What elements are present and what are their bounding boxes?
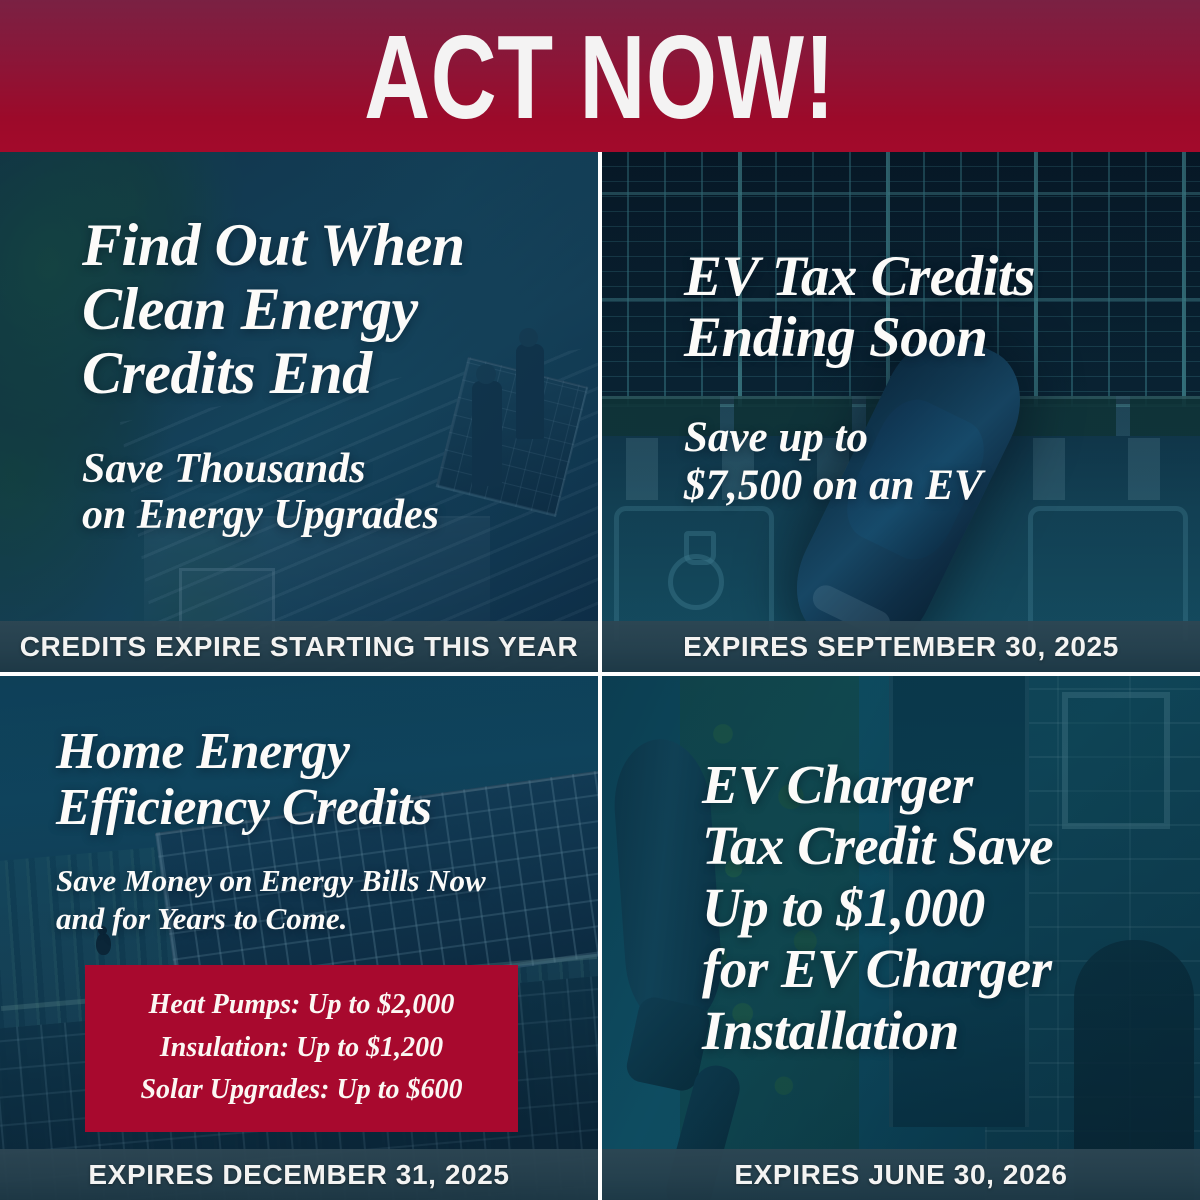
panel-grid: Find Out When Clean Energy Credits End S… (0, 152, 1200, 1200)
panel-3-text-block: Home Energy Efficiency Credits Save Mone… (0, 724, 598, 937)
panel-4-headline: EV Charger Tax Credit Save Up to $1,000 … (702, 754, 1200, 1062)
credit-line-insulation: Insulation: Up to $1,200 (160, 1030, 443, 1066)
panel-1-headline: Find Out When Clean Energy Credits End (82, 213, 598, 406)
panel-3-subhead: Save Money on Energy Bills Now and for Y… (56, 862, 598, 936)
panel-1-subhead: Save Thousands on Energy Upgrades (82, 446, 598, 538)
panel-4-expiry-band: EXPIRES JUNE 30, 2026 (602, 1149, 1200, 1200)
panel-2-expiry-text: EXPIRES SEPTEMBER 30, 2025 (683, 631, 1119, 663)
panel-ev-charger-tax-credit[interactable]: EV Charger Tax Credit Save Up to $1,000 … (602, 676, 1200, 1200)
panel-4-content: EV Charger Tax Credit Save Up to $1,000 … (602, 676, 1200, 1149)
panel-2-text-block: EV Tax Credits Ending Soon Save up to $7… (602, 246, 1200, 510)
panel-home-energy-efficiency-credits[interactable]: Home Energy Efficiency Credits Save Mone… (0, 676, 598, 1200)
panel-1-content: Find Out When Clean Energy Credits End S… (0, 152, 598, 621)
panel-1-expiry-band: CREDITS EXPIRE STARTING THIS YEAR (0, 621, 598, 672)
panel-1-text-block: Find Out When Clean Energy Credits End S… (0, 213, 598, 538)
panel-2-expiry-band: EXPIRES SEPTEMBER 30, 2025 (602, 621, 1200, 672)
poster-root: ACT NOW! Find Out When Clean Energy Cred… (0, 0, 1200, 1200)
panel-2-headline: EV Tax Credits Ending Soon (684, 246, 1200, 368)
panel-2-subhead: Save up to $7,500 on an EV (684, 414, 1200, 510)
panel-4-expiry-text: EXPIRES JUNE 30, 2026 (734, 1159, 1067, 1191)
banner-title: ACT NOW! (364, 19, 835, 138)
panel-3-content: Home Energy Efficiency Credits Save Mone… (0, 676, 598, 1149)
panel-4-text-block: EV Charger Tax Credit Save Up to $1,000 … (602, 754, 1200, 1062)
panel-3-expiry-text: EXPIRES DECEMBER 31, 2025 (88, 1159, 509, 1191)
panel-3-expiry-band: EXPIRES DECEMBER 31, 2025 (0, 1149, 598, 1200)
credit-amounts-box: Heat Pumps: Up to $2,000 Insulation: Up … (85, 965, 518, 1132)
panel-ev-tax-credits[interactable]: EV Tax Credits Ending Soon Save up to $7… (602, 152, 1200, 672)
act-now-banner: ACT NOW! (0, 0, 1200, 152)
panel-1-expiry-text: CREDITS EXPIRE STARTING THIS YEAR (20, 631, 579, 663)
panel-clean-energy-credits[interactable]: Find Out When Clean Energy Credits End S… (0, 152, 598, 672)
credit-line-solar-upgrades: Solar Upgrades: Up to $600 (140, 1072, 462, 1108)
panel-3-headline: Home Energy Efficiency Credits (56, 724, 598, 836)
panel-2-content: EV Tax Credits Ending Soon Save up to $7… (602, 152, 1200, 621)
credit-line-heat-pumps: Heat Pumps: Up to $2,000 (149, 987, 455, 1023)
